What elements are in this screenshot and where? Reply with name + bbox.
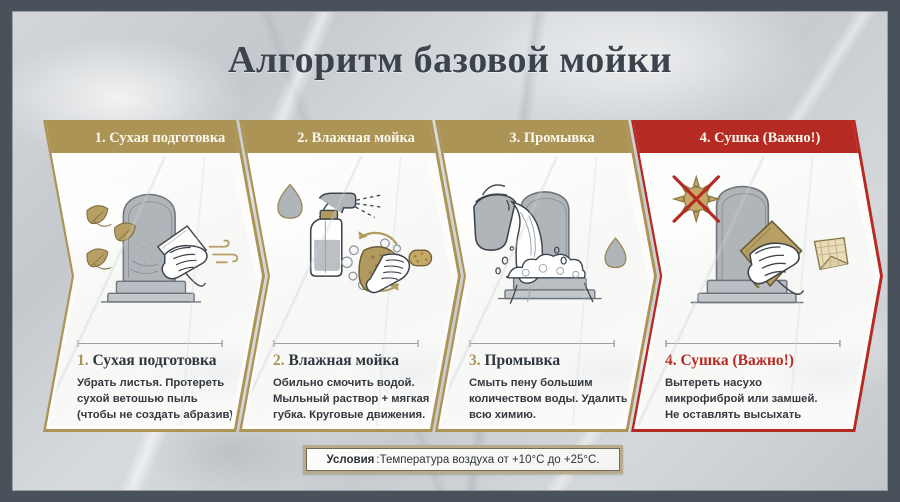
caption-title-2: 2. Влажная мойка: [273, 352, 433, 370]
page-title: Алгоритм базовой мойки: [13, 38, 887, 82]
caption-number-4: 4.: [665, 352, 677, 369]
illustration-4: [663, 158, 857, 326]
step-inner-3: 3. Промывка: [438, 123, 654, 429]
step-inner-1: 1. Сухая подготовка: [46, 123, 262, 429]
divider-line: [469, 340, 615, 347]
spray-mist-icon: [356, 195, 382, 217]
caption-title-text-3: Промывка: [485, 352, 561, 369]
step-card-3[interactable]: 3. Промывка: [435, 120, 657, 432]
divider-2: [273, 340, 419, 347]
conditions-footer-inner: Условия: Температура воздуха от +10°C до…: [306, 448, 620, 471]
step-inner-2: 2. Влажная мойка: [242, 123, 458, 429]
step-card-body-2: 2. Влажная мойка Обильно смочить водой. …: [245, 156, 455, 426]
wind-swirl-icon: [210, 241, 238, 263]
caption-body-1: Убрать листья. Протереть сухой ветошью п…: [77, 375, 237, 423]
conditions-text: Температура воздуха от +10°C до +25°C.: [380, 454, 600, 466]
step-card-body-3: 3. Промывка Смыть пену большим количеств…: [441, 156, 651, 426]
water-drop-icon: [605, 238, 626, 267]
folded-cloth-icon: [815, 238, 848, 269]
poster-root: Алгоритм базовой мойки 1. Сухая подготов…: [0, 0, 900, 502]
step-inner-4: 4. Сушка (Важно!): [634, 123, 880, 429]
dry-prep-illustration: [75, 158, 239, 326]
caption-title-text-4: Сушка (Важно!): [681, 352, 794, 369]
caption-number-2: 2.: [273, 352, 285, 369]
wet-wash-illustration: [271, 158, 435, 326]
rinse-illustration: [467, 158, 631, 326]
marble-background: Алгоритм базовой мойки 1. Сухая подготов…: [12, 11, 888, 491]
caption-2: 2. Влажная мойка Обильно смочить водой. …: [273, 352, 433, 423]
caption-title-3: 3. Промывка: [469, 352, 629, 370]
water-drop-icon: [278, 185, 302, 219]
caption-number-3: 3.: [469, 352, 481, 369]
step-card-2[interactable]: 2. Влажная мойка: [239, 120, 461, 432]
divider-4: [665, 340, 841, 347]
caption-number-1: 1.: [77, 352, 89, 369]
step-header-1: 1. Сухая подготовка: [46, 123, 262, 153]
illustration-1: [75, 158, 239, 326]
step-card-body-4: 4. Сушка (Важно!) Вытереть насухо микроф…: [637, 156, 877, 426]
sponge-icon: [409, 250, 431, 266]
caption-1: 1. Сухая подготовка Убрать листья. Проте…: [77, 352, 237, 423]
caption-body-4: Вытереть насухо микрофиброй или замшей. …: [665, 375, 833, 439]
caption-body-3: Смыть пену большим количеством воды. Уда…: [469, 375, 629, 423]
caption-title-1: 1. Сухая подготовка: [77, 352, 237, 370]
no-sun-icon: [674, 177, 718, 221]
illustration-3: [467, 158, 631, 326]
hand-with-sponge-icon: [359, 247, 409, 293]
divider-line: [273, 340, 419, 347]
step-card-body-1: 1. Сухая подготовка Убрать листья. Проте…: [49, 156, 259, 426]
drying-illustration: [663, 158, 857, 326]
illustration-2: [271, 158, 435, 326]
bucket-pouring-icon: [474, 185, 515, 250]
caption-title-text-2: Влажная мойка: [289, 352, 399, 369]
divider-3: [469, 340, 615, 347]
conditions-footer: Условия: Температура воздуха от +10°C до…: [303, 445, 623, 474]
step-header-2: 2. Влажная мойка: [242, 123, 458, 153]
caption-title-text-1: Сухая подготовка: [93, 352, 217, 369]
conditions-label: Условия: [327, 454, 375, 466]
caption-4: 4. Сушка (Важно!) Вытереть насухо микроф…: [665, 352, 833, 439]
divider-line: [77, 340, 223, 347]
divider-line: [665, 340, 841, 347]
caption-body-2: Обильно смочить водой. Мыльный раствор +…: [273, 375, 433, 423]
step-card-1[interactable]: 1. Сухая подготовка: [43, 120, 265, 432]
caption-title-4: 4. Сушка (Важно!): [665, 352, 833, 370]
divider-1: [77, 340, 223, 347]
caption-3: 3. Промывка Смыть пену большим количеств…: [469, 352, 629, 423]
steps-row: 1. Сухая подготовка: [43, 120, 883, 432]
step-card-4[interactable]: 4. Сушка (Важно!): [631, 120, 883, 432]
step-header-3: 3. Промывка: [438, 123, 654, 153]
step-header-4: 4. Сушка (Важно!): [634, 123, 880, 153]
